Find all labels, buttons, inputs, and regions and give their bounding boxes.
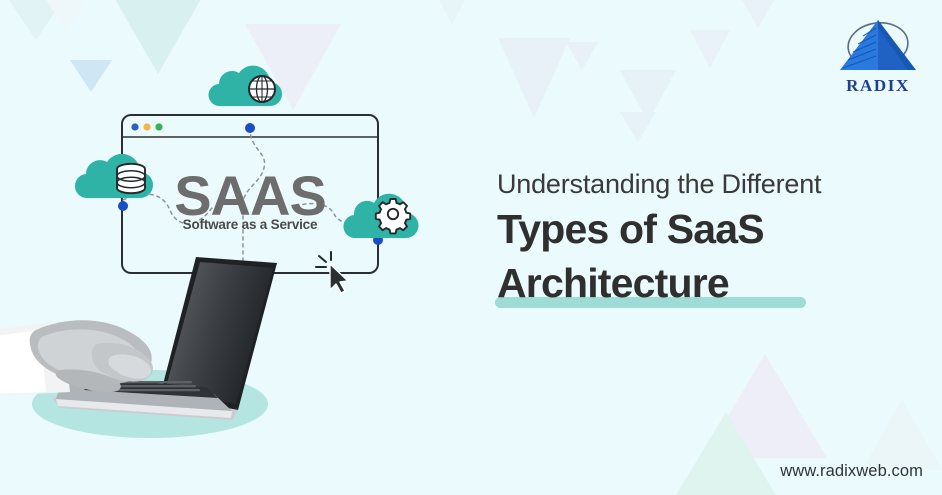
connector-dot-top — [245, 123, 255, 133]
saas-illustration: SAAS Software as a Service — [0, 0, 470, 495]
headline-block: Understanding the Different Types of Saa… — [497, 168, 917, 310]
connector-dot-left — [118, 201, 128, 211]
logo-text: RADIX — [846, 76, 910, 95]
bg-triangle — [742, 0, 774, 28]
saas-subtitle: Software as a Service — [183, 217, 318, 232]
website-url[interactable]: www.radixweb.com — [780, 462, 923, 481]
cloud-database — [75, 154, 153, 198]
traffic-light-dot-amber[interactable] — [143, 123, 150, 130]
headline-line-2: Types of SaaS — [497, 202, 917, 256]
bg-triangle — [566, 42, 598, 70]
bg-triangle — [703, 354, 827, 458]
bg-triangle — [862, 400, 942, 470]
radix-pyramid-logo[interactable]: RADIX — [832, 12, 924, 98]
gear-icon — [376, 199, 410, 233]
headline-line-3-text: Architecture — [497, 260, 729, 306]
traffic-light-dot-green[interactable] — [155, 123, 162, 130]
cloud-gear — [343, 194, 418, 238]
bg-triangle — [620, 112, 656, 142]
globe-icon — [249, 76, 275, 102]
headline-highlight-word: SaaS — [667, 202, 764, 256]
database-icon — [117, 164, 145, 193]
bg-triangle — [666, 412, 786, 495]
headline-prefix: Types of — [497, 206, 667, 252]
bg-triangle — [690, 30, 730, 68]
headline-line-1: Understanding the Different — [497, 168, 917, 202]
cloud-globe — [208, 66, 282, 106]
bg-triangle — [498, 38, 570, 118]
headline-line-3: Architecture — [497, 256, 917, 310]
bg-triangle — [620, 70, 676, 122]
traffic-light-dot-blue[interactable] — [131, 123, 138, 130]
saas-architecture-banner: SAAS Software as a Service — [0, 0, 942, 495]
